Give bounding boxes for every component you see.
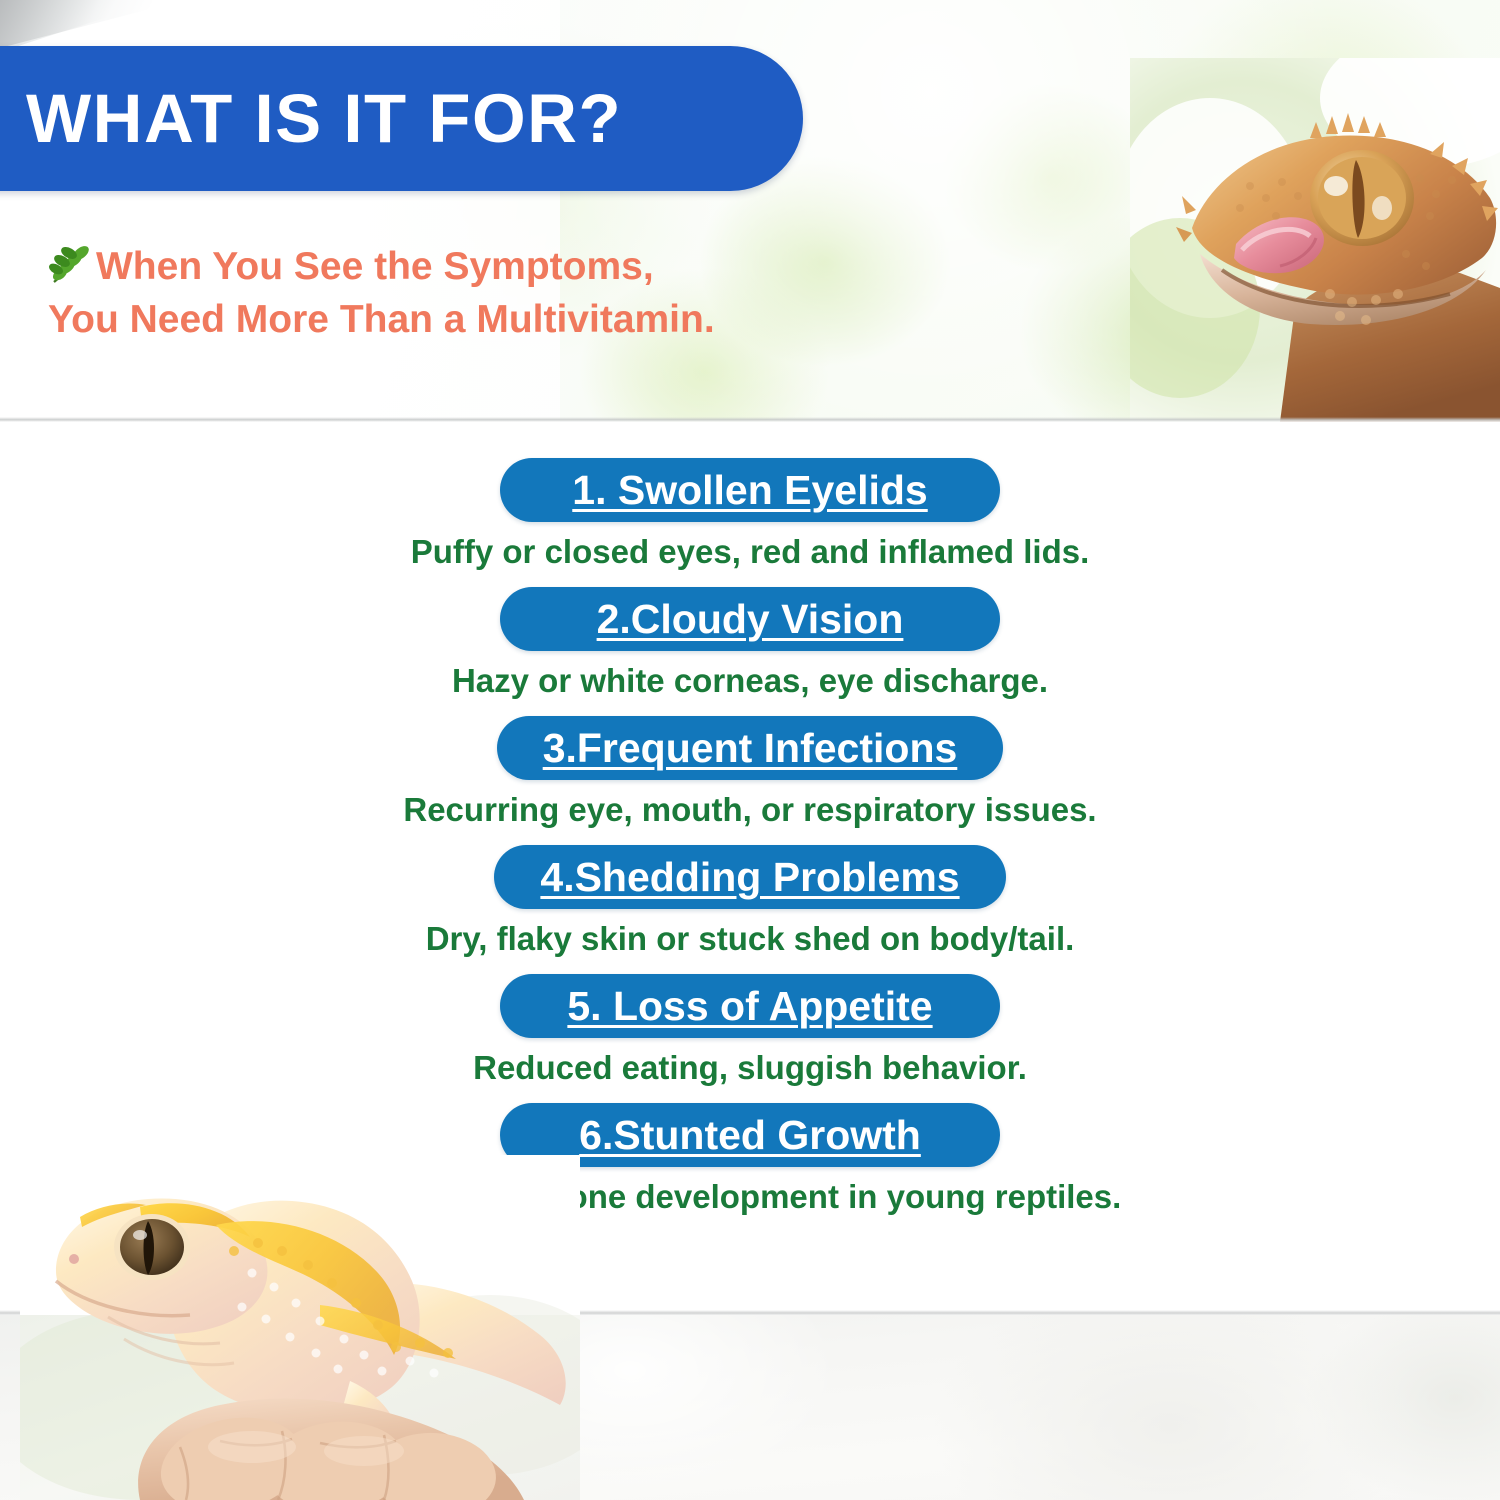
symptom-list: 1. Swollen Eyelids Puffy or closed eyes,… (0, 458, 1500, 1232)
list-item: 3.Frequent Infections Recurring eye, mou… (0, 716, 1500, 829)
symptom-description: Recurring eye, mouth, or respiratory iss… (403, 791, 1096, 829)
subtitle-block: When You See the Symptoms, You Need More… (48, 240, 878, 346)
leopard-gecko-on-hand-photo (20, 1155, 580, 1500)
symptom-title: 6.Stunted Growth (579, 1112, 921, 1159)
list-item: 4.Shedding Problems Dry, flaky skin or s… (0, 845, 1500, 958)
symptom-description: Reduced eating, sluggish behavior. (473, 1049, 1027, 1087)
symptom-title: 5. Loss of Appetite (567, 983, 932, 1030)
hero-section: WHAT IS IT FOR? (0, 0, 1500, 422)
symptom-description: Puffy or closed eyes, red and inflamed l… (411, 533, 1090, 571)
symptom-pill: 4.Shedding Problems (494, 845, 1005, 909)
symptom-pill: 2.Cloudy Vision (500, 587, 1000, 651)
list-item: 2.Cloudy Vision Hazy or white corneas, e… (0, 587, 1500, 700)
symptom-title: 2.Cloudy Vision (597, 596, 904, 643)
page-title: WHAT IS IT FOR? (0, 79, 622, 158)
list-item: 1. Swollen Eyelids Puffy or closed eyes,… (0, 458, 1500, 571)
symptom-title: 3.Frequent Infections (543, 725, 958, 772)
subtitle-line-2: You Need More Than a Multivitamin. (48, 293, 878, 346)
crested-gecko-photo (1130, 58, 1500, 422)
subtitle-text-2: You Need More Than a Multivitamin. (48, 293, 715, 346)
header-banner: WHAT IS IT FOR? (0, 46, 803, 191)
symptom-title: 1. Swollen Eyelids (572, 467, 927, 514)
infographic-page: WHAT IS IT FOR? (0, 0, 1500, 1500)
subtitle-text-1: When You See the Symptoms, (96, 240, 654, 293)
symptom-pill: 1. Swollen Eyelids (500, 458, 1000, 522)
symptom-title: 4.Shedding Problems (540, 854, 959, 901)
subtitle-line-1: When You See the Symptoms, (48, 240, 878, 293)
symptom-pill: 3.Frequent Infections (497, 716, 1004, 780)
symptom-description: Hazy or white corneas, eye discharge. (452, 662, 1048, 700)
symptom-description: Dry, flaky skin or stuck shed on body/ta… (426, 920, 1075, 958)
herb-leaf-icon (48, 244, 94, 286)
symptom-pill: 5. Loss of Appetite (500, 974, 1000, 1038)
list-item: 5. Loss of Appetite Reduced eating, slug… (0, 974, 1500, 1087)
